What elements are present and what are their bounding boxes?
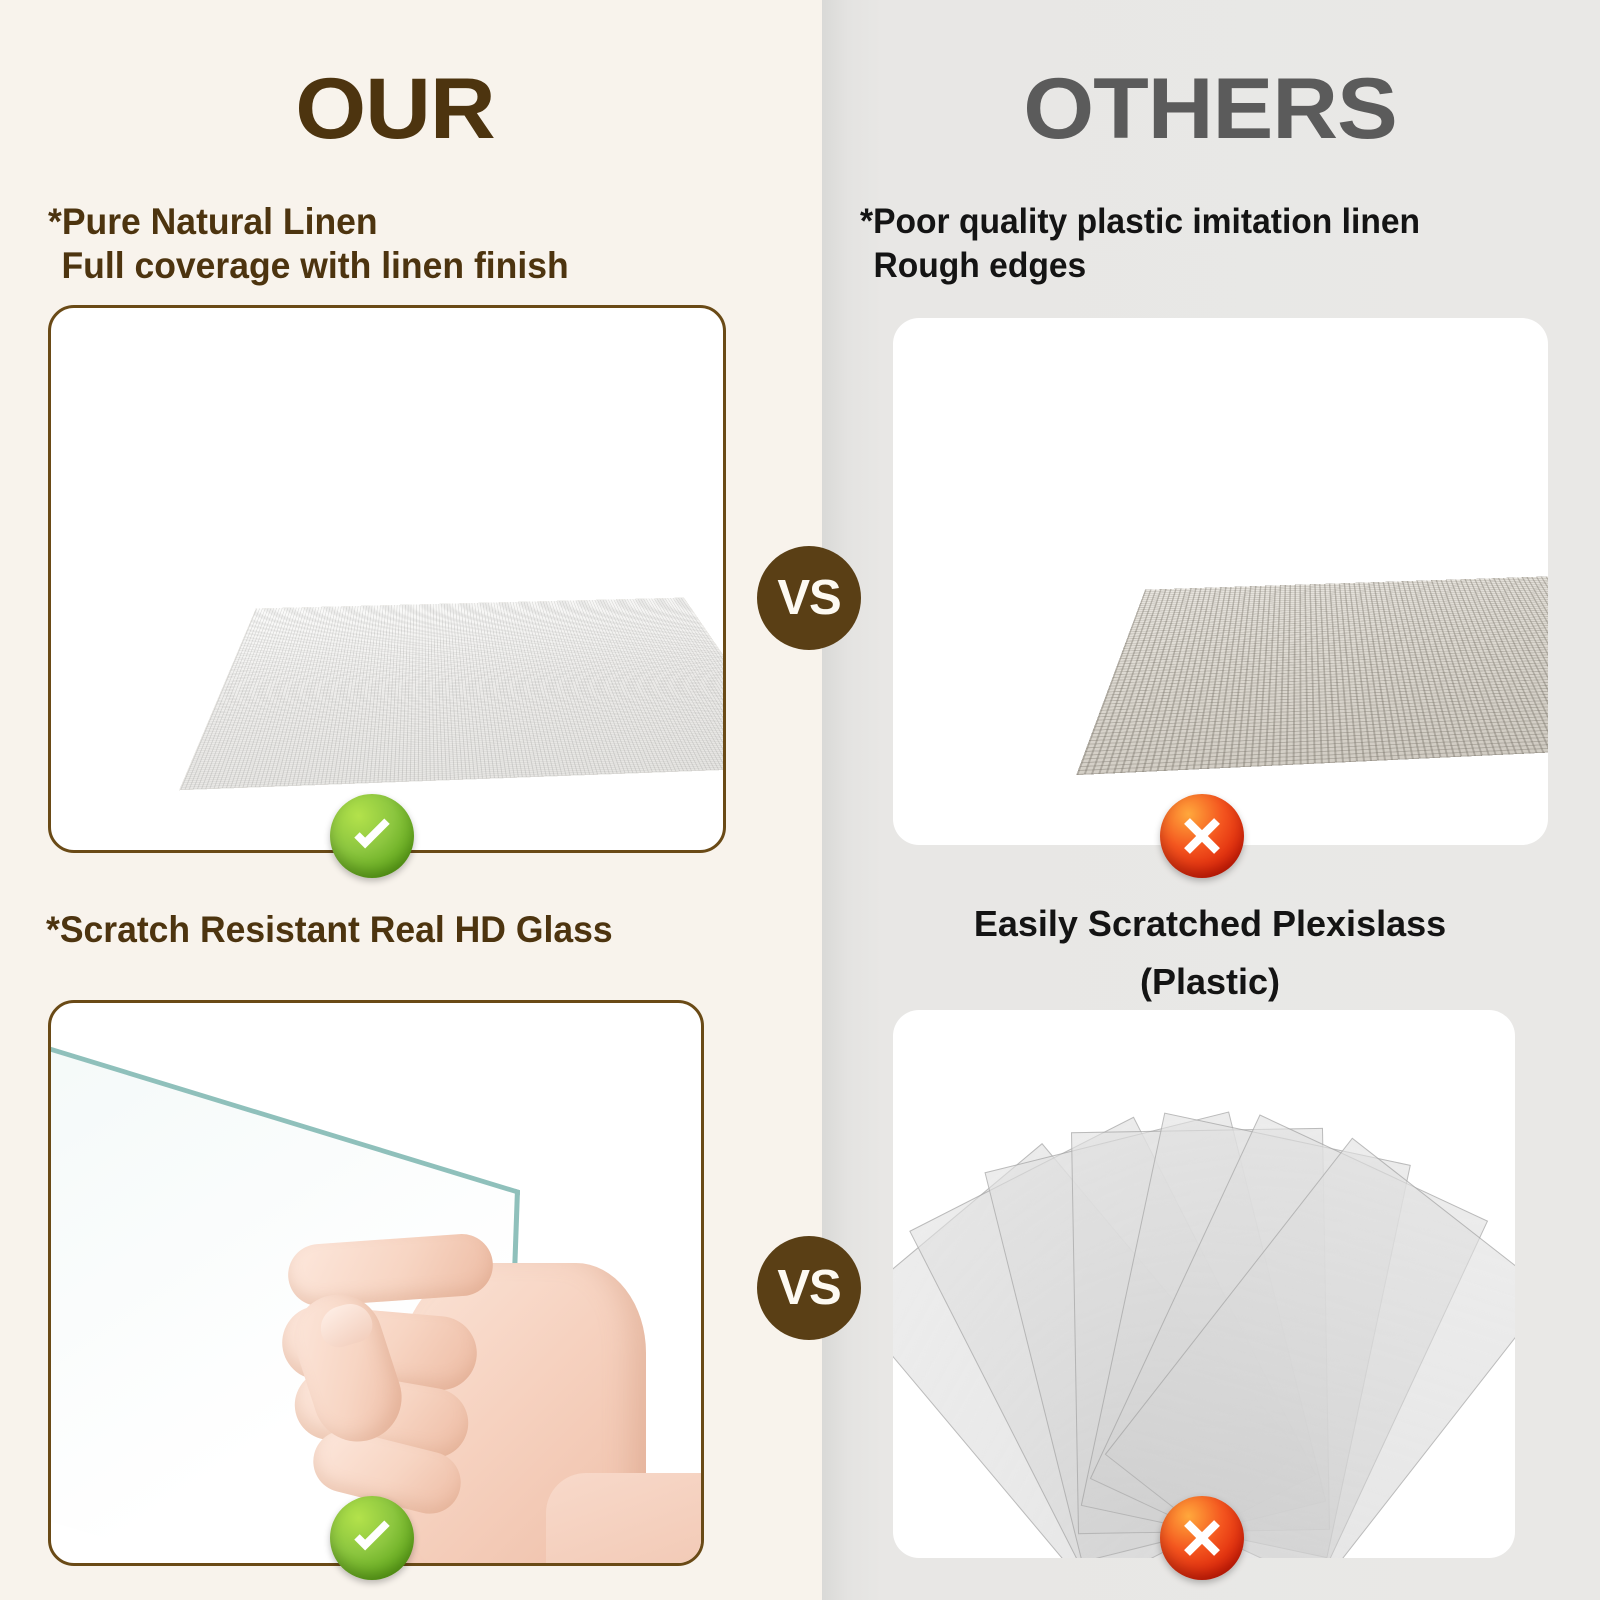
caption-others-linen-line1: *Poor quality plastic imitation linen	[860, 202, 1420, 241]
caption-others-plastic: Easily Scratched Plexislass (Plastic)	[830, 895, 1590, 1011]
cross-icon	[1160, 794, 1244, 878]
caption-others-plastic-line1: Easily Scratched Plexislass	[830, 895, 1590, 953]
hand-illustration	[266, 1173, 666, 1566]
page-title-others: OTHERS	[807, 66, 1600, 152]
caption-others-linen-line2: Rough edges	[860, 244, 1551, 288]
photo-ours-glass	[48, 1000, 704, 1566]
photo-ours-linen	[48, 305, 726, 853]
caption-ours-linen-line2: Full coverage with linen finish	[48, 244, 739, 288]
vs-badge-top: VS	[757, 546, 861, 650]
vs-badge-bottom: VS	[757, 1236, 861, 1340]
caption-ours-glass: *Scratch Resistant Real HD Glass	[46, 908, 737, 952]
photo-others-linen	[893, 318, 1548, 845]
burlap-weave-texture	[1076, 575, 1548, 775]
caption-others-plastic-line2: (Plastic)	[830, 953, 1590, 1011]
comparison-infographic: OUR OTHERS *Pure Natural Linen Full cove…	[0, 0, 1600, 1600]
wrist	[546, 1473, 704, 1566]
caption-ours-linen: *Pure Natural Linen Full coverage with l…	[48, 200, 739, 288]
linen-board-top-surface	[180, 598, 726, 790]
check-icon	[330, 794, 414, 878]
caption-ours-glass-line1: *Scratch Resistant Real HD Glass	[46, 909, 613, 950]
caption-ours-linen-line1: *Pure Natural Linen	[48, 201, 378, 242]
page-title-our: OUR	[0, 66, 814, 152]
cross-icon	[1160, 1496, 1244, 1580]
linen-weave-texture	[180, 598, 726, 790]
caption-others-linen: *Poor quality plastic imitation linen Ro…	[860, 200, 1551, 288]
burlap-board-top-surface	[1076, 575, 1548, 775]
photo-others-plastic	[893, 1010, 1515, 1558]
check-icon	[330, 1496, 414, 1580]
